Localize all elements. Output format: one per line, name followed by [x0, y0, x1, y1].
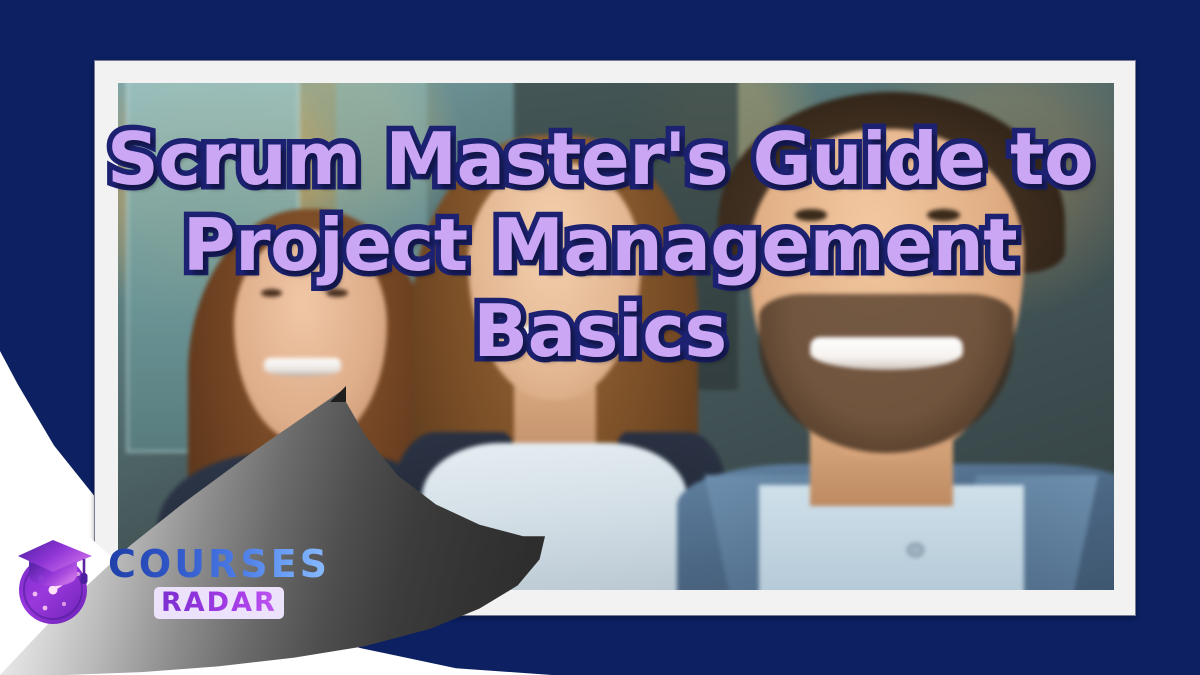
brand-name-courses: COURSES: [108, 545, 330, 583]
person-left-face: [234, 230, 387, 442]
brand-wordmark: COURSES RADAR: [108, 541, 330, 619]
brand-radar-badge: RADAR: [154, 587, 284, 619]
person-right-eye-2: [927, 209, 960, 221]
person-left-eye-1: [261, 289, 282, 297]
person-right-eye-1: [795, 209, 828, 221]
thumbnail-canvas: Scrum Master's Guide to Project Manageme…: [0, 0, 1200, 675]
graduation-cap-radar-icon: [12, 532, 98, 628]
person-center-smile: [504, 326, 601, 349]
person-left-eye-2: [326, 289, 347, 297]
brand-name-radar: RADAR: [161, 588, 277, 617]
person-left-smile: [264, 358, 341, 376]
brand-logo[interactable]: COURSES RADAR: [12, 525, 274, 635]
person-center-eye-1: [500, 236, 524, 246]
person-center-eye-2: [577, 236, 601, 246]
